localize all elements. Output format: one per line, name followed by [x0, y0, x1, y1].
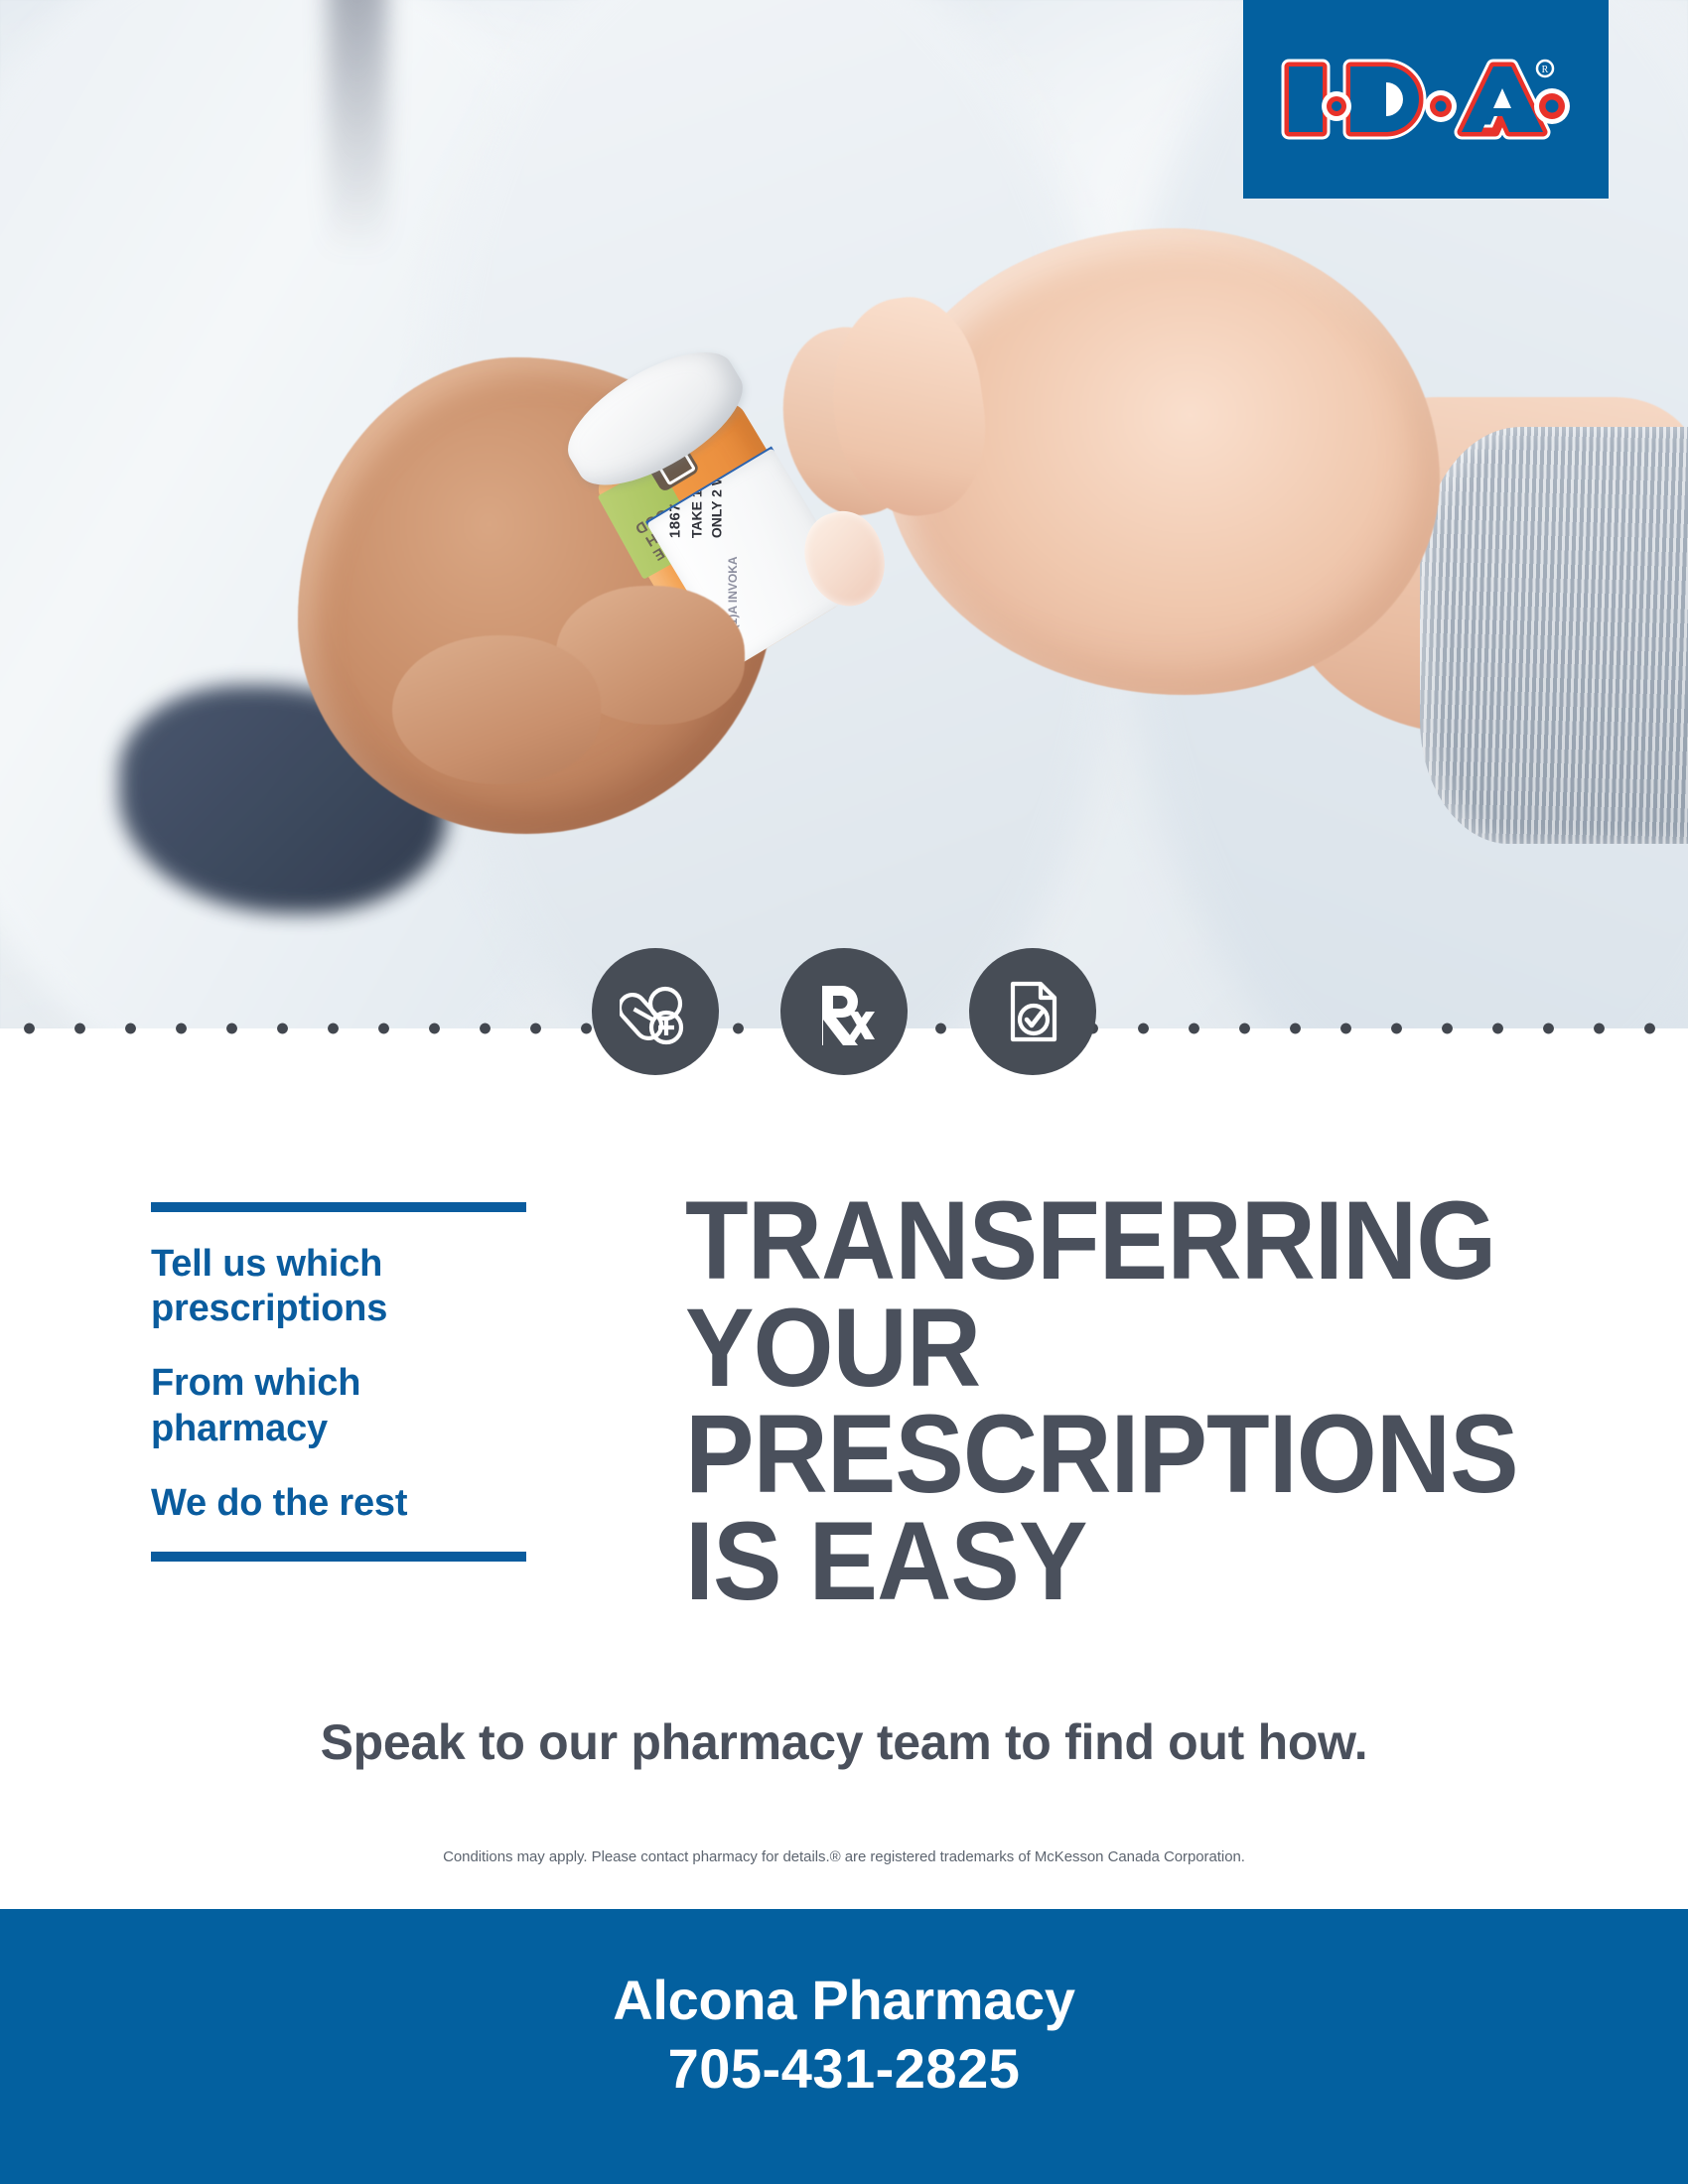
headline-line-1: TRANSFERRING	[685, 1187, 1497, 1295]
page-title: TRANSFERRING YOUR PRESCRIPTIONS IS EASY	[685, 1187, 1497, 1614]
headline-line-3: PRESCRIPTIONS	[685, 1401, 1497, 1508]
legal-disclaimer: Conditions may apply. Please contact pha…	[0, 1848, 1688, 1865]
ida-logo: R	[1243, 0, 1609, 199]
pharmacist-finger-2	[392, 635, 601, 784]
steps-top-rule	[151, 1202, 526, 1212]
rx-symbol-icon	[780, 948, 908, 1075]
svg-text:R: R	[1542, 65, 1549, 75]
step-item-1: Tell us which prescriptions	[151, 1242, 528, 1331]
step-item-2: From which pharmacy	[151, 1361, 528, 1450]
pharmacy-footer: Alcona Pharmacy 705-431-2825	[0, 1909, 1688, 2184]
service-icon-row	[0, 948, 1688, 1107]
ida-logo-mark: R	[1277, 45, 1575, 154]
steps-list: Tell us which prescriptions From which p…	[151, 1202, 528, 1562]
collar-shadow	[328, 0, 387, 258]
tagline: Speak to our pharmacy team to find out h…	[0, 1713, 1688, 1771]
steps-bottom-rule	[151, 1552, 526, 1562]
pharmacy-name: Alcona Pharmacy	[0, 1967, 1688, 2033]
headline-line-4: IS EASY	[685, 1508, 1497, 1615]
pharmacy-phone[interactable]: 705-431-2825	[0, 2033, 1688, 2105]
step-item-3: We do the rest	[151, 1481, 528, 1526]
document-check-icon	[969, 948, 1096, 1075]
headline-line-2: YOUR	[685, 1295, 1497, 1402]
customer-sweater-sleeve	[1420, 427, 1688, 844]
pills-plus-icon	[592, 948, 719, 1075]
main-content: Tell us which prescriptions From which p…	[0, 1028, 1688, 1909]
